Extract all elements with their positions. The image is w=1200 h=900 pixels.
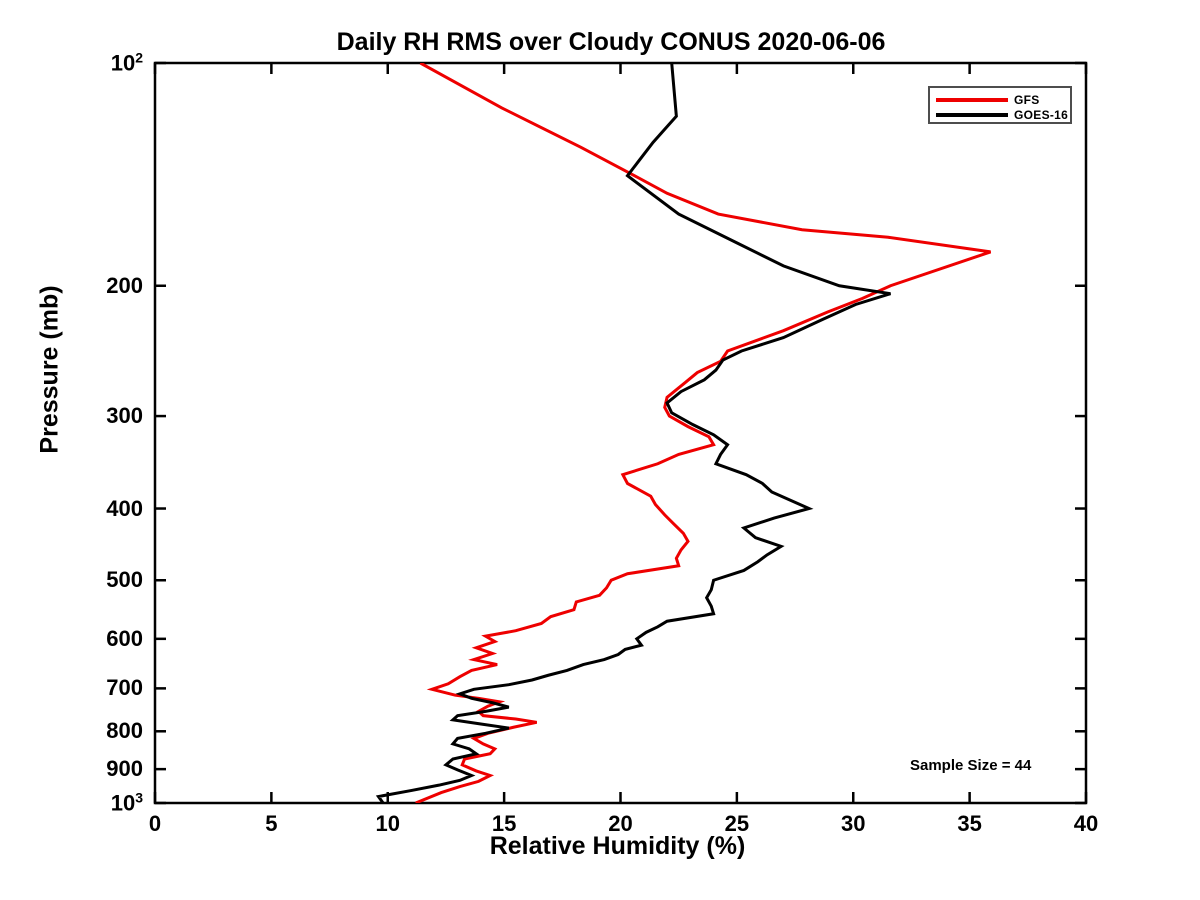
- legend-label-gfs: GFS: [1014, 94, 1040, 106]
- x-tick-label-40: 40: [1074, 811, 1098, 837]
- x-tick-label-15: 15: [492, 811, 516, 837]
- y-tick-label-1000: 103: [111, 789, 143, 816]
- legend-entry-gfs: GFS: [936, 92, 1040, 107]
- y-axis-label: Pressure (mb): [36, 170, 65, 570]
- legend-label-goes16: GOES-16: [1014, 109, 1068, 121]
- y-tick-label-800: 800: [106, 718, 143, 744]
- legend: GFS GOES-16: [928, 86, 1072, 124]
- y-tick-label-400: 400: [106, 496, 143, 522]
- y-tick-label-100: 102: [111, 49, 143, 76]
- x-tick-label-20: 20: [608, 811, 632, 837]
- sample-size-annotation: Sample Size = 44: [910, 757, 1031, 774]
- y-tick-label-900: 900: [106, 756, 143, 782]
- x-tick-label-10: 10: [376, 811, 400, 837]
- x-axis-label: Relative Humidity (%): [0, 832, 1200, 861]
- legend-swatch-gfs: [936, 98, 1008, 102]
- figure-canvas: Daily RH RMS over Cloudy CONUS 2020-06-0…: [0, 0, 1200, 900]
- y-tick-label-300: 300: [106, 403, 143, 429]
- x-tick-label-25: 25: [725, 811, 749, 837]
- y-tick-label-600: 600: [106, 626, 143, 652]
- x-tick-label-35: 35: [957, 811, 981, 837]
- legend-entry-goes16: GOES-16: [936, 107, 1068, 122]
- axes-frame: [155, 63, 1086, 803]
- x-tick-label-5: 5: [265, 811, 277, 837]
- y-tick-label-500: 500: [106, 567, 143, 593]
- series-line-gfs: [416, 63, 991, 803]
- y-tick-label-700: 700: [106, 675, 143, 701]
- x-tick-label-0: 0: [149, 811, 161, 837]
- y-tick-label-200: 200: [106, 273, 143, 299]
- x-tick-label-30: 30: [841, 811, 865, 837]
- legend-swatch-goes16: [936, 113, 1008, 117]
